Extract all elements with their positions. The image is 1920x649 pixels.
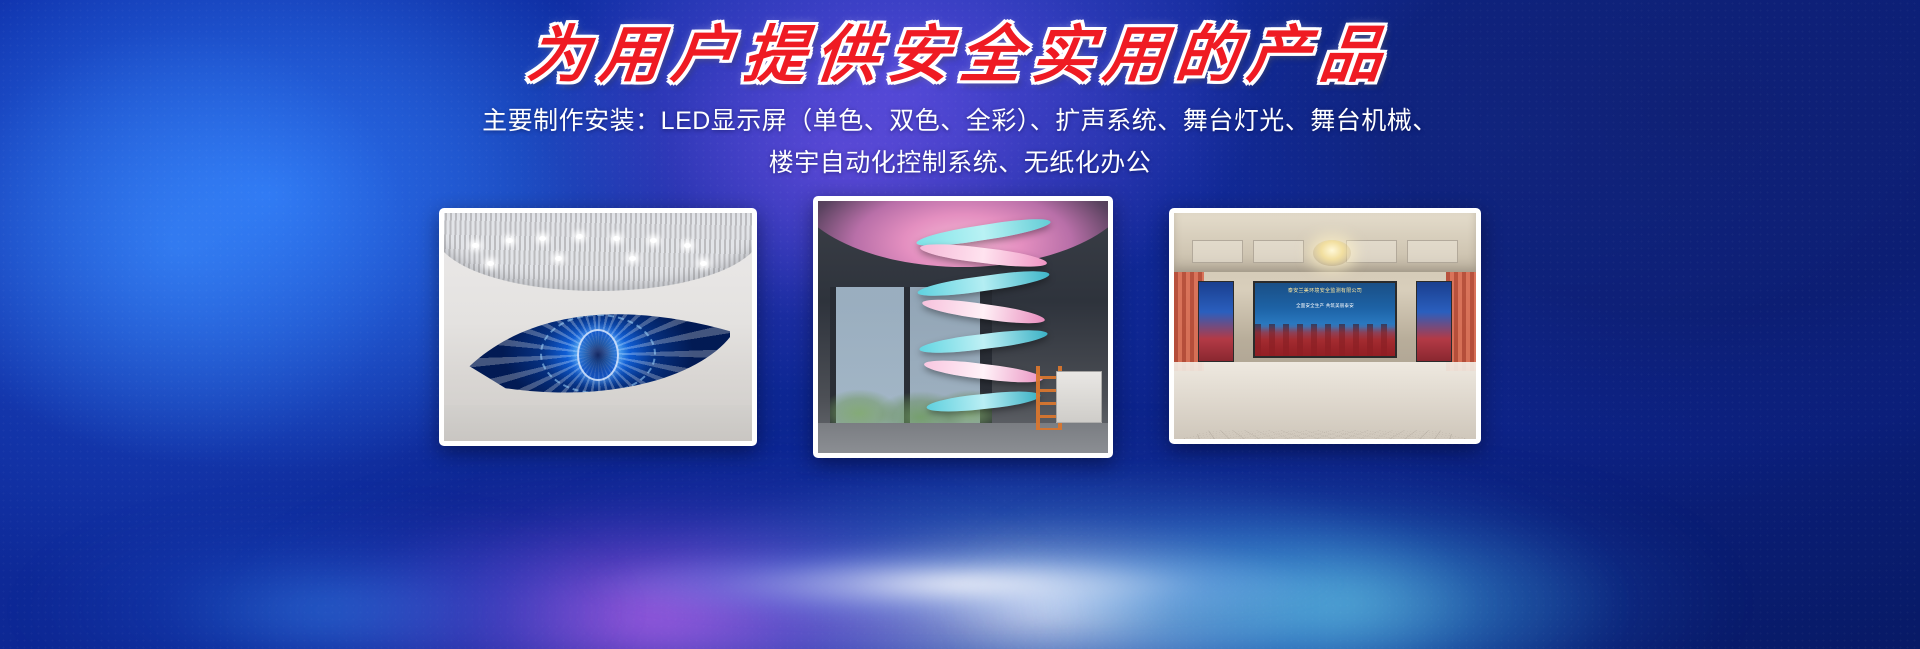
gallery-item-conference-hall-led-screen[interactable]: 泰安兰美环境安全监测有限公司 全面安全生产 共筑美丽泰安 [1169, 208, 1481, 444]
lobby-floor [444, 405, 752, 441]
spiral-led-ribbon [917, 211, 1050, 443]
banner-headline: 为用户提供安全实用的产品 [525, 22, 1396, 87]
led-ribbon-band [919, 240, 1048, 270]
main-led-screen: 泰安兰美环境安全监测有限公司 全面安全生产 共筑美丽泰安 [1253, 281, 1398, 358]
atrium-floor [818, 423, 1108, 453]
display-core [577, 329, 619, 381]
gallery-item-eye-shaped-led-wall[interactable] [439, 208, 757, 446]
chandelier-icon [1313, 240, 1351, 266]
promo-banner: 为用户提供安全实用的产品 主要制作安装：LED显示屏（单色、双色、全彩）、扩声系… [0, 0, 1920, 649]
ceiling-spotlight-icon [472, 243, 479, 248]
subtitle-container: 主要制作安装：LED显示屏（单色、双色、全彩）、扩声系统、舞台灯光、舞台机械、 … [0, 100, 1920, 184]
ceiling-spotlight-icon [684, 243, 691, 248]
ceiling-panel [1346, 240, 1397, 263]
led-ribbon-band [918, 326, 1048, 357]
led-ribbon-band [923, 357, 1044, 387]
photo-spiral-led-ribbon [818, 201, 1108, 453]
hall-floor [1174, 362, 1476, 439]
ceiling-spotlight-icon [700, 261, 707, 266]
photo-conference-hall-led-screen: 泰安兰美环境安全监测有限公司 全面安全生产 共筑美丽泰安 [1174, 213, 1476, 439]
subtitle-line-2: 楼宇自动化控制系统、无纸化办公 [0, 142, 1920, 184]
ceiling-panel [1192, 240, 1243, 263]
led-ribbon-band [921, 295, 1046, 327]
led-ribbon-band [916, 267, 1050, 300]
subtitle-line-1: 主要制作安装：LED显示屏（单色、双色、全彩）、扩声系统、舞台灯光、舞台机械、 [0, 100, 1920, 142]
gallery: 泰安兰美环境安全监测有限公司 全面安全生产 共筑美丽泰安 [0, 196, 1920, 466]
bottom-light-streak [538, 532, 1383, 636]
led-side-panel-left [1198, 281, 1234, 362]
equipment-cabinet [1056, 371, 1102, 423]
led-screen-subtitle: 全面安全生产 共筑美丽泰安 [1255, 303, 1396, 309]
ceiling-panel [1253, 240, 1304, 263]
photo-eye-shaped-led-wall [444, 213, 752, 441]
screen-skyline-graphic [1255, 324, 1396, 356]
ceiling-spotlight-icon [487, 261, 494, 266]
ceiling-spotlight-icon [576, 234, 583, 239]
led-side-panel-right [1416, 281, 1452, 362]
led-ribbon-band [925, 388, 1041, 415]
floor-tile-pattern [1174, 431, 1476, 439]
gallery-item-spiral-led-ribbon[interactable] [813, 196, 1113, 458]
ceiling-spotlight-icon [506, 238, 513, 243]
ceiling-panel [1407, 240, 1458, 263]
headline-container: 为用户提供安全实用的产品 [0, 22, 1920, 87]
led-screen-title: 泰安兰美环境安全监测有限公司 [1255, 287, 1396, 294]
